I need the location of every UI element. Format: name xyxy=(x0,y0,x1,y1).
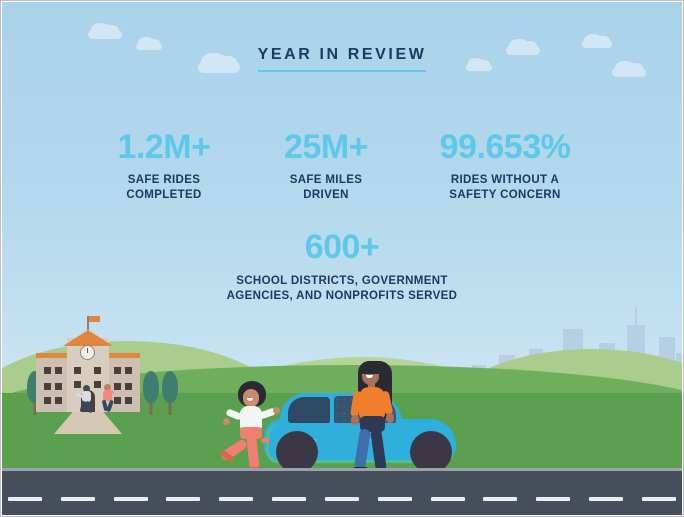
car-wheel xyxy=(276,431,318,473)
stat-safe-rides: 1.2M+ SAFE RIDES COMPLETED xyxy=(89,130,239,202)
child-figure xyxy=(99,384,119,414)
stats-row: 1.2M+ SAFE RIDES COMPLETED 25M+ SAFE MIL… xyxy=(2,130,682,202)
stat-label: SAFE RIDES COMPLETED xyxy=(89,173,239,202)
stat-label: RIDES WITHOUT A SAFETY CONCERN xyxy=(415,173,595,202)
stat-label-line: SAFETY CONCERN xyxy=(415,188,595,203)
stat-label-line: SAFE MILES xyxy=(261,173,391,188)
school-roof xyxy=(36,353,70,358)
stat-label: SAFE MILES DRIVEN xyxy=(261,173,391,202)
stat-label-line: SCHOOL DISTRICTS, GOVERNMENT xyxy=(2,274,682,289)
stat-value: 600+ xyxy=(2,230,682,264)
stat-label: SCHOOL DISTRICTS, GOVERNMENT AGENCIES, A… xyxy=(2,274,682,304)
page-title-wrapper: YEAR IN REVIEW xyxy=(2,46,682,72)
skyline-spire xyxy=(635,307,637,325)
window-icon xyxy=(74,367,81,374)
stat-label-line: DRIVEN xyxy=(261,188,391,203)
child-figure xyxy=(78,385,98,415)
illustration-scene: YEAR IN REVIEW 1.2M+ SAFE RIDES COMPLETE… xyxy=(2,2,682,515)
lane-markings xyxy=(2,497,682,501)
clock-icon xyxy=(80,345,95,360)
stat-organizations-served: 600+ SCHOOL DISTRICTS, GOVERNMENT AGENCI… xyxy=(2,230,682,304)
school-pediment xyxy=(63,330,113,346)
stat-label-line: COMPLETED xyxy=(89,188,239,203)
stat-safe-miles: 25M+ SAFE MILES DRIVEN xyxy=(261,130,391,202)
cloud-icon xyxy=(88,30,122,39)
window-icon xyxy=(44,397,51,404)
car-wheel xyxy=(410,431,452,473)
stat-value: 25M+ xyxy=(261,130,391,164)
stat-label-line: AGENCIES, AND NONPROFITS SERVED xyxy=(2,289,682,304)
window-icon xyxy=(114,367,121,374)
car-window-front xyxy=(288,397,330,423)
window-icon xyxy=(55,397,62,404)
window-icon xyxy=(94,367,101,374)
flag-icon xyxy=(89,316,100,322)
stat-label-line: RIDES WITHOUT A xyxy=(415,173,595,188)
road xyxy=(2,468,682,515)
tree-icon xyxy=(162,377,178,415)
girl-running-figure xyxy=(224,381,280,473)
tree-icon xyxy=(142,371,160,415)
window-icon xyxy=(44,367,51,374)
window-icon xyxy=(125,367,132,374)
window-icon xyxy=(44,383,51,390)
stat-rides-without-safety-concern: 99.653% RIDES WITHOUT A SAFETY CONCERN xyxy=(415,130,595,202)
woman-walking-figure xyxy=(342,359,404,479)
stat-label-line: SAFE RIDES xyxy=(89,173,239,188)
window-icon xyxy=(125,383,132,390)
stat-value: 1.2M+ xyxy=(89,130,239,164)
window-icon xyxy=(125,397,132,404)
stat-value: 99.653% xyxy=(415,130,595,164)
window-icon xyxy=(55,383,62,390)
road-edge xyxy=(2,468,682,471)
school-roof xyxy=(106,353,140,358)
window-icon xyxy=(55,367,62,374)
page-title: YEAR IN REVIEW xyxy=(258,46,427,72)
year-in-review-infographic: YEAR IN REVIEW 1.2M+ SAFE RIDES COMPLETE… xyxy=(0,0,684,517)
